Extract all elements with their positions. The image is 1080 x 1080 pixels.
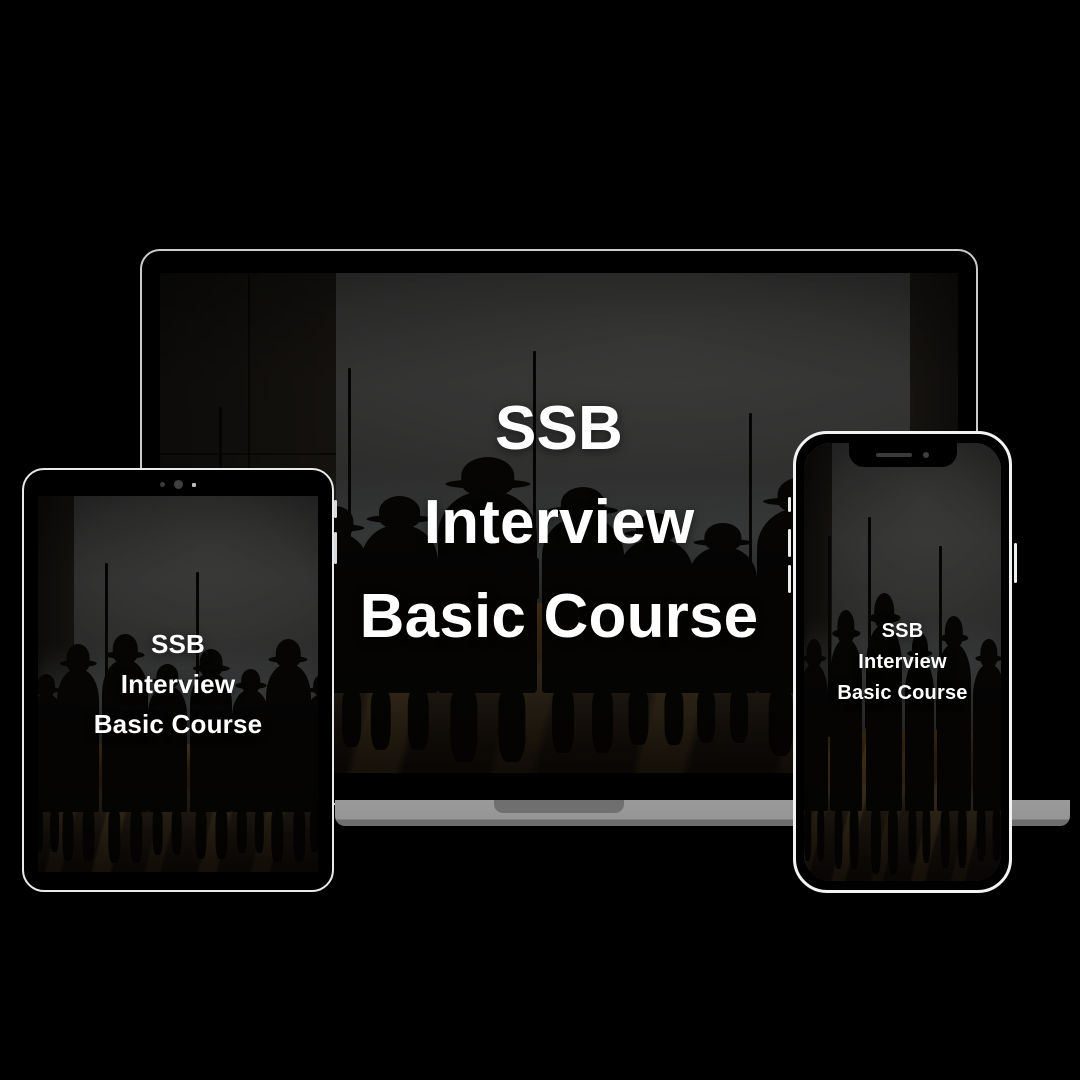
tablet-camera-cluster bbox=[160, 480, 196, 489]
title-line-3: Basic Course bbox=[94, 704, 263, 744]
phone-body: SSB Interview Basic Course bbox=[793, 431, 1012, 893]
title-line-1: SSB bbox=[495, 382, 623, 476]
power-button[interactable] bbox=[1014, 543, 1017, 583]
mockup-canvas: SSB Interview Basic Course bbox=[0, 0, 1080, 1080]
tablet-screen[interactable]: SSB Interview Basic Course bbox=[38, 496, 318, 872]
silent-switch-button[interactable] bbox=[788, 497, 791, 512]
tablet-course-title: SSB Interview Basic Course bbox=[38, 496, 318, 872]
title-line-1: SSB bbox=[151, 624, 205, 664]
phone-screen[interactable]: SSB Interview Basic Course bbox=[804, 443, 1001, 881]
device-phone[interactable]: SSB Interview Basic Course bbox=[793, 431, 1012, 893]
phone-notch bbox=[849, 443, 957, 467]
phone-course-title: SSB Interview Basic Course bbox=[804, 443, 1001, 881]
front-camera-dot-icon bbox=[174, 480, 183, 489]
title-line-2: Interview bbox=[858, 647, 947, 678]
title-line-3: Basic Course bbox=[837, 678, 967, 709]
title-line-1: SSB bbox=[882, 616, 924, 647]
tablet-body: SSB Interview Basic Course bbox=[22, 468, 334, 892]
earpiece-speaker-icon bbox=[876, 453, 912, 457]
tablet-volume-down-button[interactable] bbox=[334, 532, 337, 564]
volume-down-button[interactable] bbox=[788, 565, 791, 593]
laptop-base-notch bbox=[494, 800, 624, 813]
device-tablet[interactable]: SSB Interview Basic Course bbox=[22, 468, 334, 892]
sensor-dot-icon bbox=[160, 482, 165, 487]
indicator-square-icon bbox=[192, 483, 196, 487]
front-camera-dot-icon bbox=[923, 452, 929, 458]
title-line-3: Basic Course bbox=[360, 570, 759, 664]
volume-up-button[interactable] bbox=[788, 529, 791, 557]
title-line-2: Interview bbox=[424, 476, 695, 570]
title-line-2: Interview bbox=[121, 664, 236, 704]
tablet-volume-up-button[interactable] bbox=[334, 500, 337, 518]
